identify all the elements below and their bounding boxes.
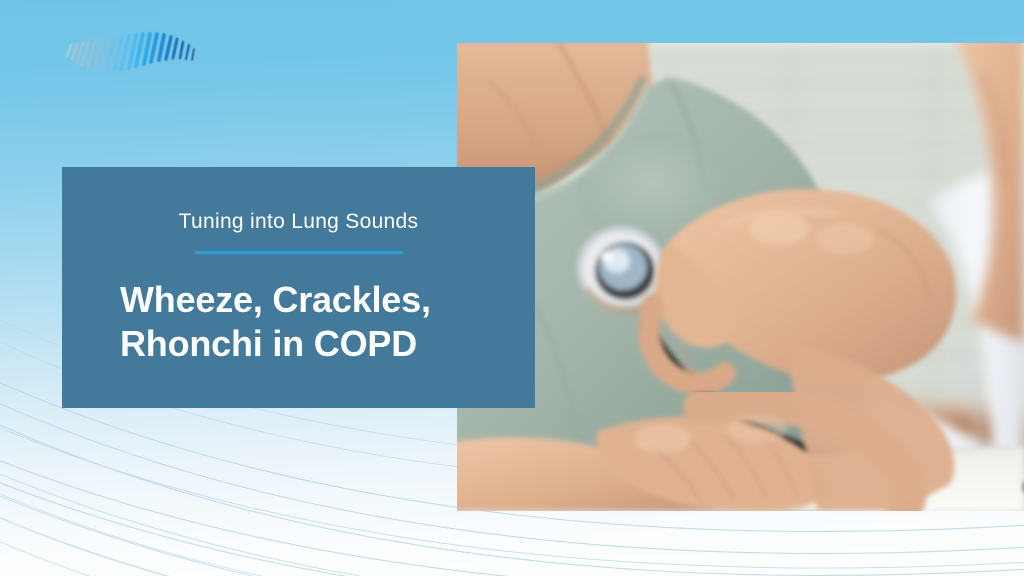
eyebrow-text: Tuning into Lung Sounds xyxy=(62,209,535,234)
headline-line-1: Wheeze, Crackles, xyxy=(120,278,535,322)
clinical-auscultation-photo xyxy=(457,43,1024,511)
headline-line-2: Rhonchi in COPD xyxy=(120,322,535,366)
page-title: Wheeze, Crackles, Rhonchi in COPD xyxy=(62,278,535,366)
title-panel: Tuning into Lung Sounds Wheeze, Crackles… xyxy=(62,167,535,408)
slide-canvas: Tuning into Lung Sounds Wheeze, Crackles… xyxy=(0,0,1024,576)
divider-rule xyxy=(195,251,403,254)
soundwave-logo xyxy=(62,28,207,86)
